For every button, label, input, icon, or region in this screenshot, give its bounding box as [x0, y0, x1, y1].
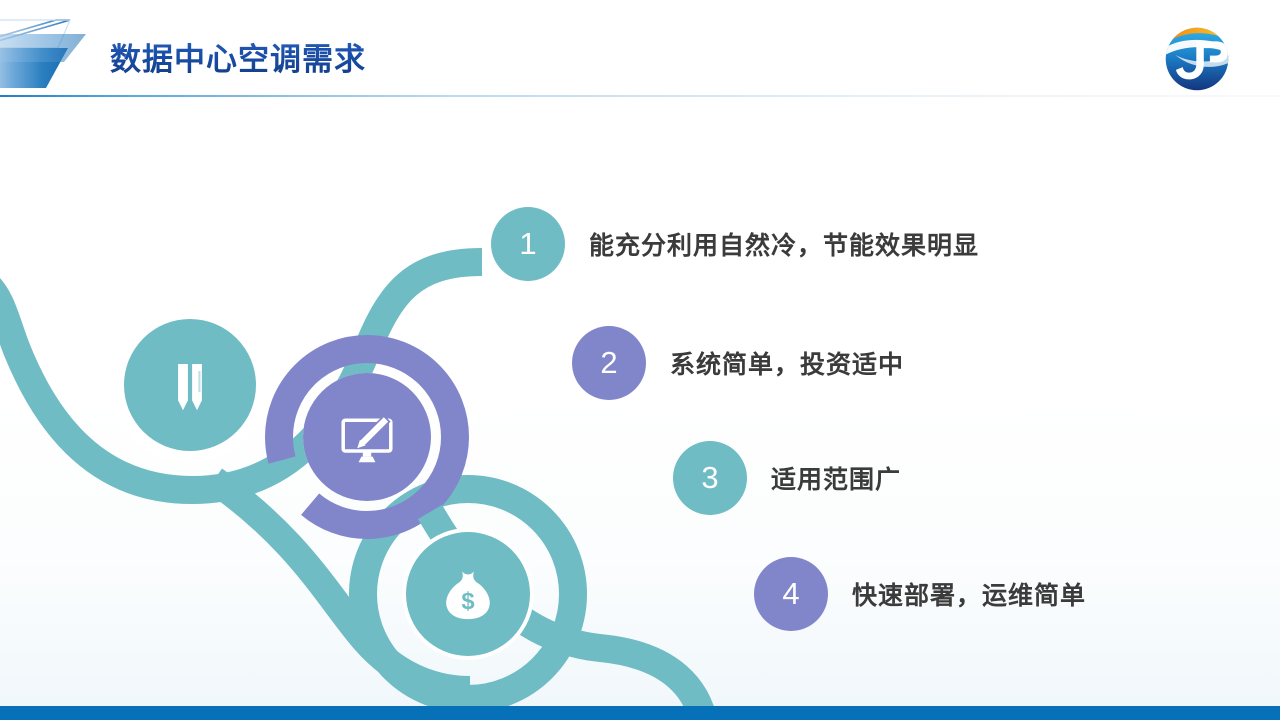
slide-header: 数据中心空调需求: [0, 0, 1280, 100]
bullet-row-3[interactable]: 3 适用范围广: [673, 441, 901, 515]
monitor-pencil-icon: [332, 402, 402, 472]
header-deco-band-upper: [0, 34, 86, 62]
bullet-row-1[interactable]: 1 能充分利用自然冷，节能效果明显: [491, 207, 979, 281]
header-underline: [0, 95, 1280, 97]
monitor-pencil-icon-circle: [303, 373, 431, 501]
money-bag-icon-circle: $: [406, 532, 530, 656]
bullet-row-4[interactable]: 4 快速部署，运维简单: [754, 557, 1086, 631]
company-logo: [1163, 25, 1231, 93]
bullet-text-4: 快速部署，运维简单: [852, 576, 1086, 612]
bullet-number-4: 4: [754, 557, 828, 631]
footer-bar: [0, 706, 1280, 720]
bullet-text-3: 适用范围广: [771, 460, 901, 496]
bullet-text-1: 能充分利用自然冷，节能效果明显: [589, 226, 979, 262]
svg-text:$: $: [461, 588, 474, 615]
bullet-row-2[interactable]: 2 系统简单，投资适中: [572, 326, 904, 400]
bullet-number-2: 2: [572, 326, 646, 400]
pencils-icon-circle: [124, 319, 256, 451]
bullet-number-1: 1: [491, 207, 565, 281]
pencils-icon: [155, 350, 225, 420]
bullet-text-2: 系统简单，投资适中: [670, 345, 904, 381]
slide-canvas: 数据中心空调需求: [0, 0, 1280, 720]
page-title: 数据中心空调需求: [110, 34, 366, 79]
bullet-number-3: 3: [673, 441, 747, 515]
money-bag-icon: $: [435, 561, 501, 627]
